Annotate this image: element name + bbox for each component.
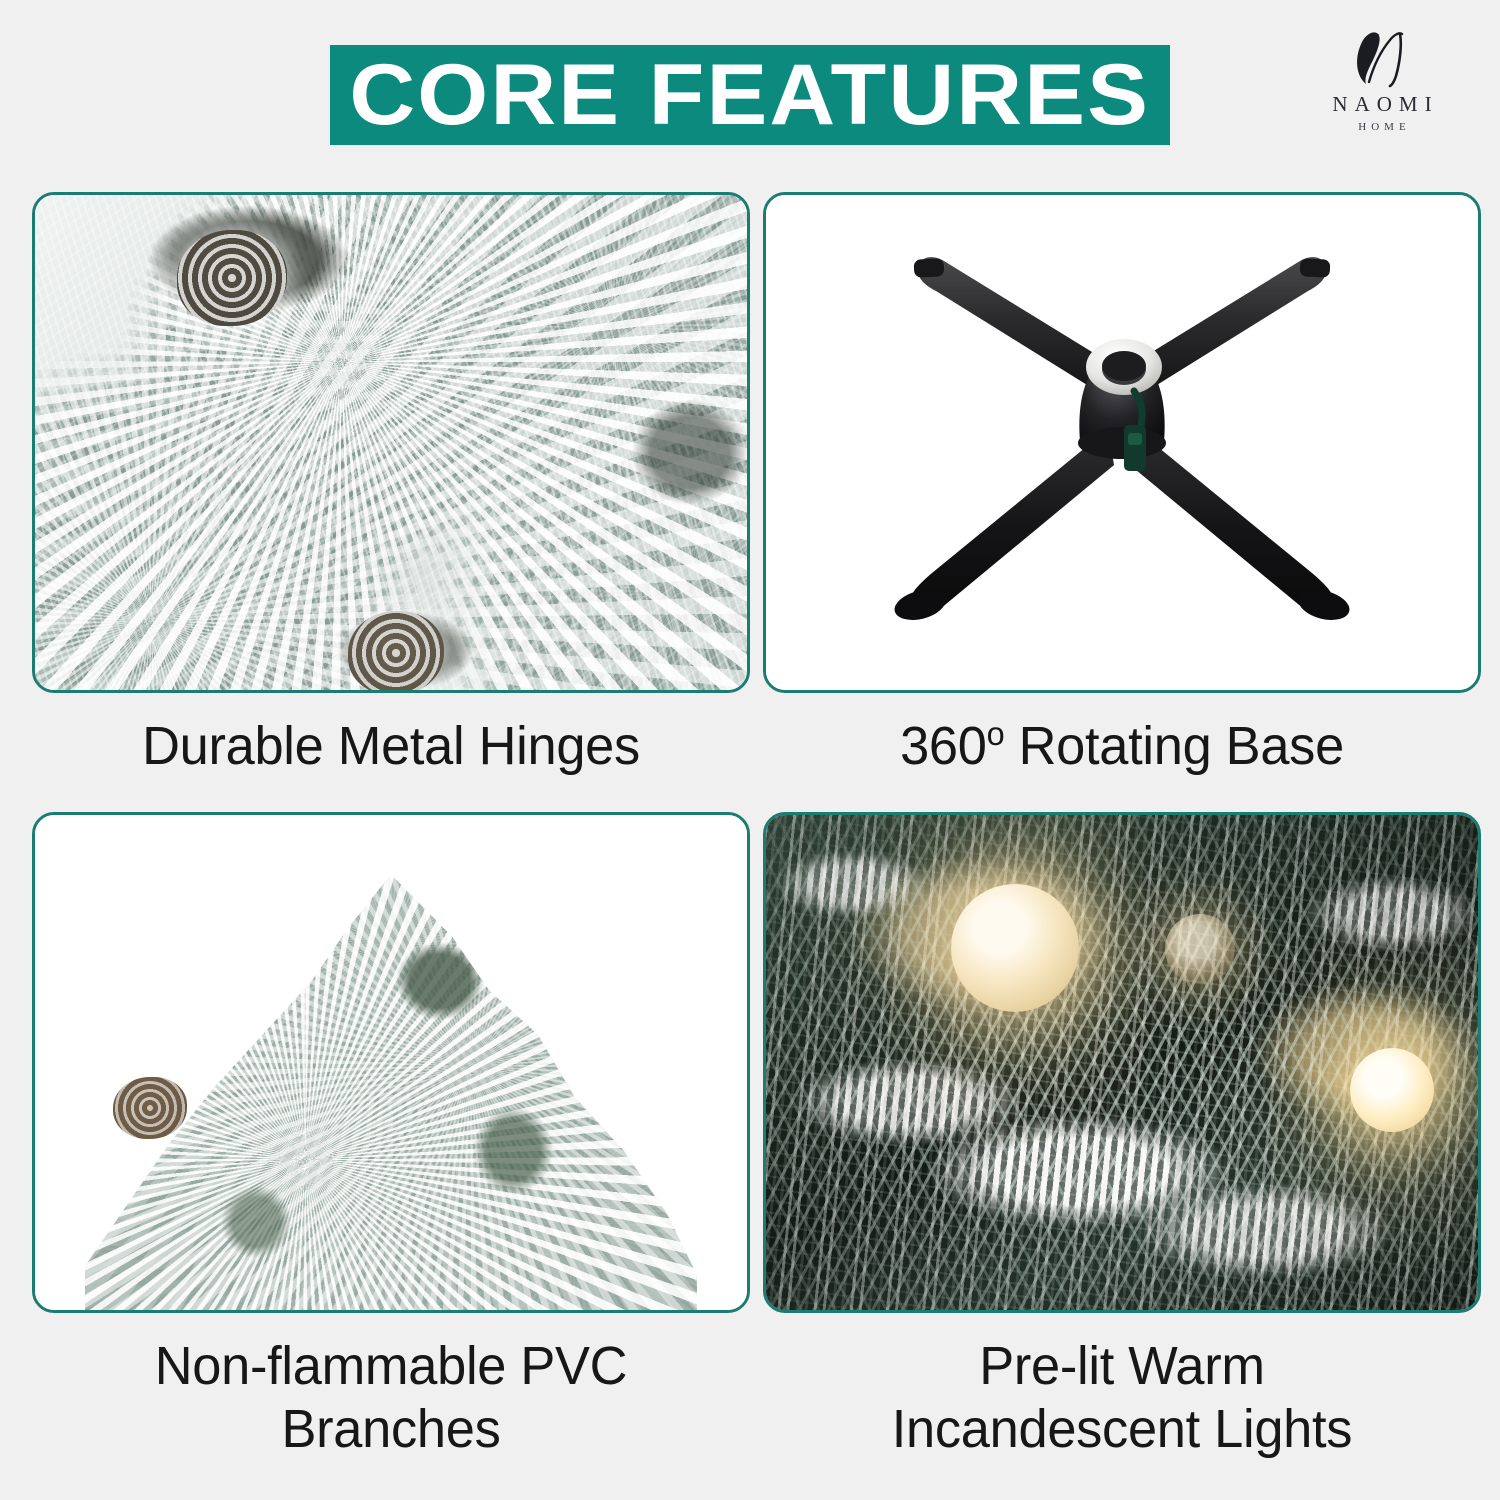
feature-image-flocked-needles <box>32 192 750 693</box>
naomi-script-n-monogram-icon <box>1342 28 1422 90</box>
brand-name: NAOMI <box>1332 94 1438 115</box>
feature-caption: Durable Metal Hinges <box>43 715 739 778</box>
tree-top-texture <box>35 815 747 1310</box>
feature-caption: Pre-lit Warm Incandescent Lights <box>774 1335 1470 1460</box>
feature-caption-line: Non-flammable PVC <box>43 1335 739 1398</box>
brand-subtitle: HOME <box>1358 122 1410 133</box>
degree-superscript: o <box>987 716 1005 753</box>
dark-branches-backdrop <box>766 815 1478 1310</box>
page-header: CORE FEATURES NAOMI HOME <box>0 0 1500 175</box>
feature-caption-prefix: 360 <box>900 716 987 776</box>
brand-logo: NAOMI HOME <box>1302 28 1462 146</box>
feature-card-non-flammable-pvc-branches: Non-flammable PVC Branches <box>32 812 750 1460</box>
feature-image-pre-lit-lights <box>763 812 1481 1313</box>
feature-caption-line: Pre-lit Warm <box>774 1335 1470 1398</box>
feature-image-tree-top <box>32 812 750 1313</box>
feature-caption: 360o Rotating Base <box>774 715 1470 778</box>
feature-image-rotating-base <box>763 192 1481 693</box>
pinecone-icon <box>113 1077 187 1139</box>
feature-caption-suffix: Rotating Base <box>1004 716 1344 776</box>
feature-card-rotating-base: 360o Rotating Base <box>763 192 1481 778</box>
feature-card-pre-lit-warm-lights: Pre-lit Warm Incandescent Lights <box>763 812 1481 1460</box>
core-features-banner: CORE FEATURES <box>330 45 1170 145</box>
feature-caption: Non-flammable PVC Branches <box>43 1335 739 1460</box>
light-bulb-icon <box>1165 914 1235 984</box>
feature-card-durable-metal-hinges: Durable Metal Hinges <box>32 192 750 778</box>
pinecone-icon <box>177 230 287 326</box>
feature-caption-line: Branches <box>43 1398 739 1461</box>
light-bulb-icon <box>1350 1048 1434 1132</box>
light-bulb-icon <box>951 884 1079 1012</box>
feature-caption-line: Incandescent Lights <box>774 1398 1470 1461</box>
pinecone-icon <box>348 611 444 693</box>
rotating-tree-stand-icon <box>862 243 1382 643</box>
features-grid: Durable Metal Hinges <box>0 175 1500 1500</box>
page-title: CORE FEATURES <box>350 52 1151 138</box>
